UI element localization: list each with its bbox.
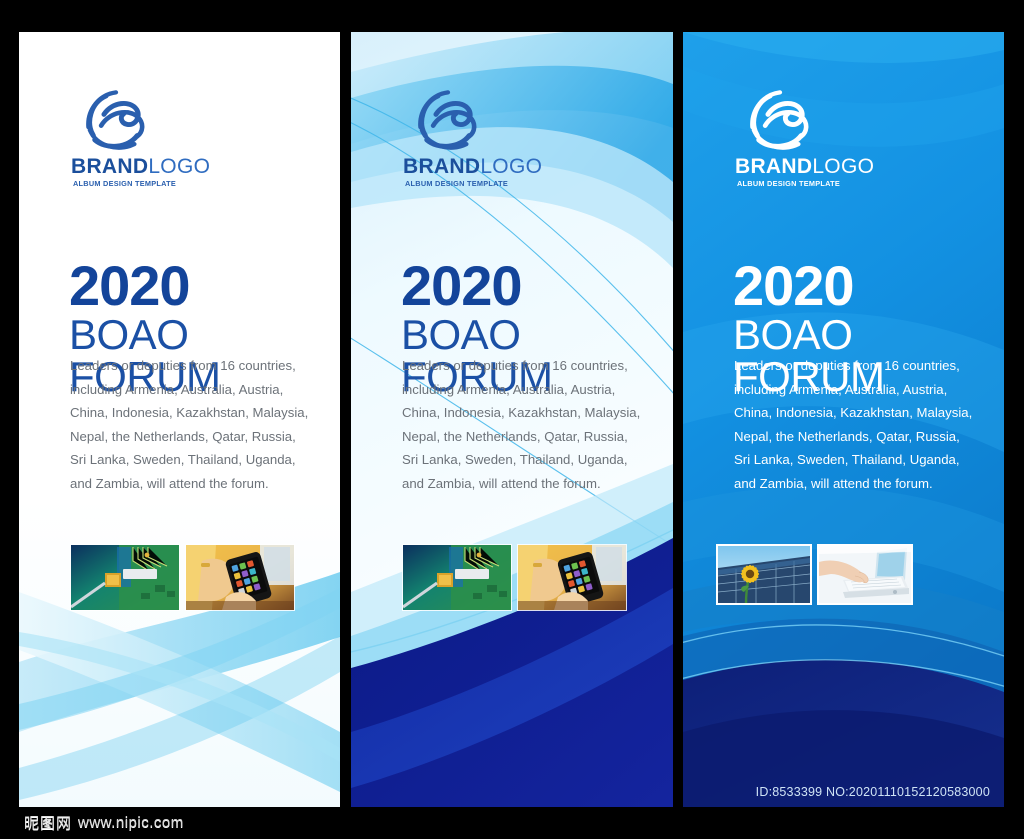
photo-strip bbox=[716, 544, 913, 605]
watermark-cjk-logo: 昵图网 bbox=[24, 812, 72, 833]
photo-circuit-board[interactable] bbox=[402, 544, 512, 611]
brand-logo-wordmark: BRANDLOGO bbox=[735, 156, 975, 177]
brand-tagline: ALBUM DESIGN TEMPLATE bbox=[405, 179, 648, 188]
globe-swirl-icon bbox=[412, 86, 484, 154]
panel-1-content: BRANDLOGO ALBUM DESIGN TEMPLATE 2020 BOA… bbox=[19, 32, 340, 807]
brand-logo-wordmark: BRANDLOGO bbox=[403, 156, 643, 177]
panel-2-content: BRANDLOGO ALBUM DESIGN TEMPLATE 2020 BOA… bbox=[351, 32, 673, 807]
panel-3-content: BRANDLOGO ALBUM DESIGN TEMPLATE 2020 BOA… bbox=[683, 32, 1004, 807]
site-watermark: 昵图网 www.nipic.com bbox=[24, 812, 184, 833]
headline-year: 2020 bbox=[401, 260, 673, 312]
banner-preview-stage: BRANDLOGO ALBUM DESIGN TEMPLATE 2020 BOA… bbox=[0, 0, 1024, 839]
headline-year: 2020 bbox=[733, 260, 1004, 312]
brand-word-light: LOGO bbox=[812, 155, 874, 178]
brand-logo[interactable]: BRANDLOGO ALBUM DESIGN TEMPLATE bbox=[403, 86, 643, 188]
watermark-url: www.nipic.com bbox=[78, 814, 184, 831]
brand-tagline: ALBUM DESIGN TEMPLATE bbox=[73, 179, 316, 188]
brand-logo[interactable]: BRANDLOGO ALBUM DESIGN TEMPLATE bbox=[71, 86, 311, 188]
headline-year: 2020 bbox=[69, 260, 340, 312]
photo-strip bbox=[70, 544, 295, 611]
banner-panel-2[interactable]: BRANDLOGO ALBUM DESIGN TEMPLATE 2020 BOA… bbox=[351, 32, 673, 807]
globe-swirl-icon bbox=[744, 86, 816, 154]
banner-panel-1[interactable]: BRANDLOGO ALBUM DESIGN TEMPLATE 2020 BOA… bbox=[19, 32, 340, 807]
brand-logo-wordmark: BRANDLOGO bbox=[71, 156, 311, 177]
banner-panel-3[interactable]: BRANDLOGO ALBUM DESIGN TEMPLATE 2020 BOA… bbox=[683, 32, 1004, 807]
brand-word-bold: BRAND bbox=[403, 155, 480, 178]
brand-word-light: LOGO bbox=[480, 155, 542, 178]
photo-solar-panel-sunflower[interactable] bbox=[716, 544, 812, 605]
brand-word-light: LOGO bbox=[148, 155, 210, 178]
photo-hand-smartphone[interactable] bbox=[185, 544, 295, 611]
brand-tagline: ALBUM DESIGN TEMPLATE bbox=[737, 179, 980, 188]
body-paragraph: Leaders or deputies from 16 countries, i… bbox=[402, 354, 647, 496]
photo-hand-smartphone[interactable] bbox=[517, 544, 627, 611]
photo-strip bbox=[402, 544, 627, 611]
asset-id-tag: ID:8533399 NO:20201110152120583000 bbox=[756, 785, 990, 799]
brand-word-bold: BRAND bbox=[71, 155, 148, 178]
body-paragraph: Leaders or deputies from 16 countries, i… bbox=[70, 354, 315, 496]
photo-circuit-board[interactable] bbox=[70, 544, 180, 611]
photo-hand-laptop[interactable] bbox=[817, 544, 913, 605]
globe-swirl-icon bbox=[80, 86, 152, 154]
body-paragraph: Leaders or deputies from 16 countries, i… bbox=[734, 354, 979, 496]
brand-logo[interactable]: BRANDLOGO ALBUM DESIGN TEMPLATE bbox=[735, 86, 975, 188]
brand-word-bold: BRAND bbox=[735, 155, 812, 178]
